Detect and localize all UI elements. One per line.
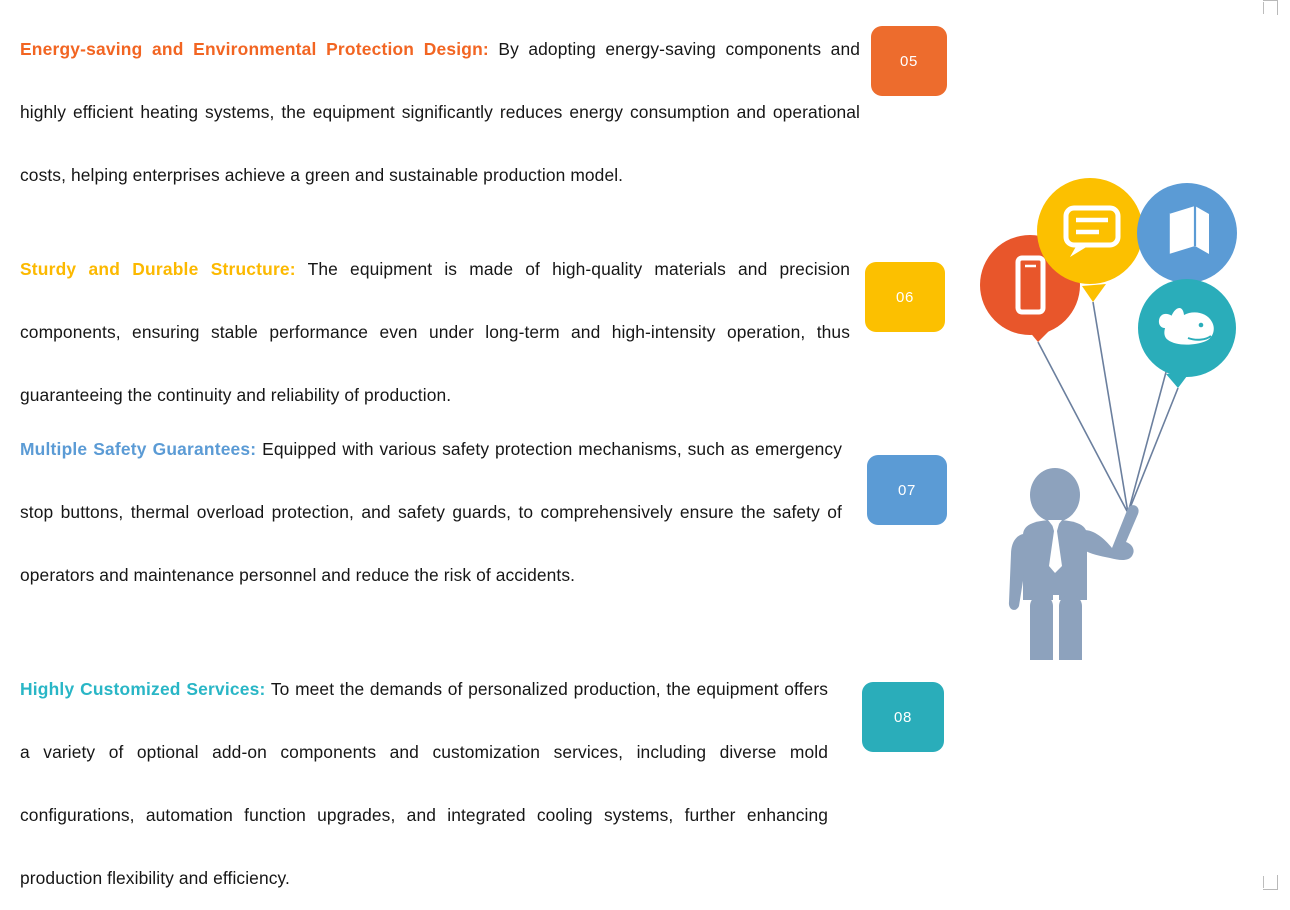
paragraph-body-customized-services: To meet the demands of personalized prod… <box>20 679 828 888</box>
paragraph-energy-saving: Energy-saving and Environmental Protecti… <box>20 18 860 207</box>
number-badge-06: 06 <box>865 262 945 332</box>
balloon-teal-whale <box>1138 279 1236 388</box>
paragraph-body-sturdy-structure: The equipment is made of high-quality ma… <box>20 259 850 405</box>
page-corner-guide-top-right <box>1263 0 1278 15</box>
paragraph-customized-services: Highly Customized Services: To meet the … <box>20 658 828 910</box>
number-badge-05: 05 <box>871 26 947 96</box>
businessman-holding-balloons-illustration <box>960 130 1290 660</box>
number-badge-07: 07 <box>867 455 947 525</box>
paragraph-lead-energy-saving: Energy-saving and Environmental Protecti… <box>20 39 489 59</box>
paragraph-safety-guarantees: Multiple Safety Guarantees: Equipped wit… <box>20 418 842 607</box>
number-badge-08: 08 <box>862 682 944 752</box>
page-margin-rule-bottom <box>1263 876 1264 888</box>
paragraph-sturdy-structure: Sturdy and Durable Structure: The equipm… <box>20 238 850 427</box>
paragraph-lead-safety-guarantees: Multiple Safety Guarantees: <box>20 439 256 459</box>
paragraph-lead-customized-services: Highly Customized Services: <box>20 679 266 699</box>
paragraph-body-safety-guarantees: Equipped with various safety protection … <box>20 439 842 585</box>
paragraph-lead-sturdy-structure: Sturdy and Durable Structure: <box>20 259 296 279</box>
paragraph-body-energy-saving: By adopting energy-saving components and… <box>20 39 860 185</box>
page-margin-rule-top <box>1263 2 1264 14</box>
book-icon <box>1169 206 1209 254</box>
page-corner-guide-bottom-right <box>1263 875 1278 890</box>
